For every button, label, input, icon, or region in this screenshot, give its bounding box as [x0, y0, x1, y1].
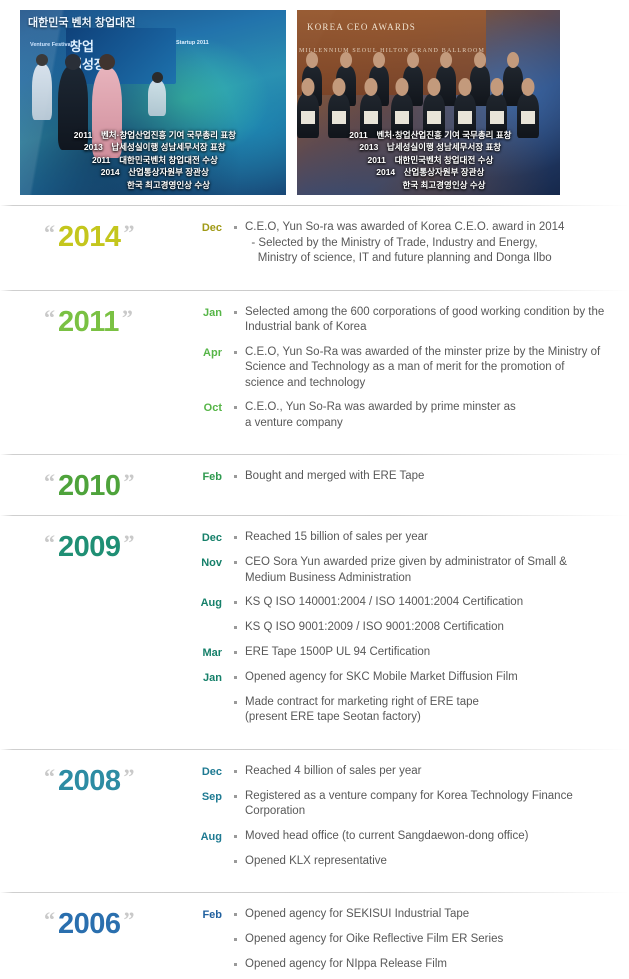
- year-label-2010: “2010”: [0, 469, 190, 501]
- event-text: Bought and merged with ERE Tape: [234, 469, 623, 485]
- event-line: Opened agency for NIppa Release Film: [245, 957, 623, 973]
- caption-line: 2011대한민국벤처 창업대전 수상: [303, 154, 554, 167]
- caption-line: 2011벤처·창업산업진흥 기여 국무총리 표창: [303, 129, 554, 142]
- caption-text: 납세성실이행 성남세무서장 표창: [111, 142, 225, 152]
- event-row: NovCEO Sora Yun awarded prize given by a…: [190, 555, 623, 586]
- ceo-photo-caption-block: 2011벤처·창업산업진흥 기여 국무총리 표창 2013납세성실이행 성남세무…: [297, 129, 560, 192]
- event-text: Made contract for marketing right of ERE…: [234, 695, 623, 726]
- event-text: ERE Tape 1500P UL 94 Certification: [234, 645, 623, 661]
- caption-text: 한국 최고경영인상 수상: [127, 180, 210, 190]
- event-month: [190, 957, 234, 958]
- event-line: C.E.O, Yun So-ra was awarded of Korea C.…: [245, 220, 623, 236]
- event-month: Apr: [190, 345, 234, 361]
- caption-year: 2014: [97, 166, 123, 179]
- events-list-2006: FebOpened agency for SEKISUI Industrial …: [190, 907, 629, 979]
- event-line: Reached 4 billion of sales per year: [245, 764, 623, 780]
- close-quote-icon: ”: [124, 530, 135, 555]
- caption-text: 산업통상자원부 장관상: [128, 167, 209, 177]
- award-photos-row: 대한민국 벤처 창업대전 창업 래성장 Venture Festival Sta…: [0, 0, 629, 205]
- event-month: Sep: [190, 789, 234, 805]
- open-quote-icon: “: [44, 764, 55, 789]
- event-line: Opened agency for Oike Reflective Film E…: [245, 932, 623, 948]
- caption-line: 2011벤처·창업산업진흥 기여 국무총리 표창: [26, 129, 280, 142]
- events-list-2014: DecC.E.O, Yun So-ra was awarded of Korea…: [190, 220, 629, 276]
- year-block-2009: “2009”DecReached 15 billion of sales per…: [0, 516, 629, 749]
- event-row: OctC.E.O., Yun So-Ra was awarded by prim…: [190, 400, 623, 431]
- event-line: Moved head office (to current Sangdaewon…: [245, 829, 623, 845]
- event-line: KS Q ISO 9001:2009 / ISO 9001:2008 Certi…: [245, 620, 623, 636]
- close-quote-icon: ”: [122, 305, 133, 330]
- event-line: Bought and merged with ERE Tape: [245, 469, 623, 485]
- event-line: - Selected by the Ministry of Trade, Ind…: [245, 236, 623, 252]
- caption-text: 벤처·창업산업진흥 기여 국무총리 표창: [101, 130, 236, 140]
- caption-text: 한국 최고경영인상 수상: [403, 180, 486, 190]
- event-line: C.E.O, Yun So-Ra was awarded of the mins…: [245, 345, 623, 361]
- event-text: KS Q ISO 9001:2009 / ISO 9001:2008 Certi…: [234, 620, 623, 636]
- event-row: AprC.E.O, Yun So-Ra was awarded of the m…: [190, 345, 623, 392]
- year-block-2014: “2014”DecC.E.O, Yun So-ra was awarded of…: [0, 206, 629, 290]
- event-month: [190, 620, 234, 621]
- event-line: Selected among the 600 corporations of g…: [245, 305, 623, 321]
- event-line: Corporation: [245, 804, 623, 820]
- event-line: science and technology: [245, 376, 623, 392]
- event-text: Opened KLX representative: [234, 854, 623, 870]
- event-text: CEO Sora Yun awarded prize given by admi…: [234, 555, 623, 586]
- event-line: Science and Technology as a man of merit…: [245, 360, 623, 376]
- caption-year: 2011: [70, 129, 96, 142]
- close-quote-icon: ”: [124, 220, 135, 245]
- caption-text: 납세성실이행 성남세무서장 표창: [387, 142, 501, 152]
- year-number: 2006: [58, 908, 121, 940]
- event-month: Aug: [190, 595, 234, 611]
- close-quote-icon: ”: [124, 764, 135, 789]
- caption-text: 산업통상자원부 장관상: [404, 167, 485, 177]
- year-number: 2009: [58, 531, 121, 563]
- startup-2011-label: Startup 2011: [176, 40, 209, 47]
- event-line: Opened agency for SKC Mobile Market Diff…: [245, 670, 623, 686]
- event-row: DecReached 15 billion of sales per year: [190, 530, 623, 546]
- event-row: AugMoved head office (to current Sangdae…: [190, 829, 623, 845]
- event-month: Jan: [190, 670, 234, 686]
- event-text: Selected among the 600 corporations of g…: [234, 305, 623, 336]
- event-line: Opened agency for SEKISUI Industrial Tap…: [245, 907, 623, 923]
- year-number: 2011: [58, 306, 119, 338]
- year-label-2014: “2014”: [0, 220, 190, 276]
- venture-photo-caption-block: 2011벤처·창업산업진흥 기여 국무총리 표창 2013납세성실이행 성남세무…: [20, 129, 286, 192]
- year-number: 2008: [58, 765, 121, 797]
- events-list-2010: FebBought and merged with ERE Tape: [190, 469, 629, 501]
- event-row: DecReached 4 billion of sales per year: [190, 764, 623, 780]
- event-month: [190, 854, 234, 855]
- caption-year: 2013: [80, 141, 106, 154]
- figure-attendee-right: [148, 80, 166, 116]
- event-row: FebBought and merged with ERE Tape: [190, 469, 623, 485]
- korea-ceo-awards-headline: KOREA CEO AWARDS: [307, 22, 416, 32]
- event-text: Moved head office (to current Sangdaewon…: [234, 829, 623, 845]
- year-label-2011: “2011”: [0, 305, 190, 441]
- caption-line: 한국 최고경영인상 수상: [303, 179, 554, 192]
- venture-festival-label: Venture Festival: [30, 42, 72, 49]
- caption-year: 2011: [88, 154, 114, 167]
- caption-year: 2011: [345, 129, 371, 142]
- close-quote-icon: ”: [124, 907, 135, 932]
- event-line: KS Q ISO 140001:2004 / ISO 14001:2004 Ce…: [245, 595, 623, 611]
- caption-line: 2013납세성실이행 성남세무서장 표창: [26, 141, 280, 154]
- venue-label: MILLENNIUM SEOUL HILTON GRAND BALLROOM: [299, 48, 485, 54]
- event-line: Registered as a venture company for Kore…: [245, 789, 623, 805]
- event-row: FebOpened agency for SEKISUI Industrial …: [190, 907, 623, 923]
- event-month: Jan: [190, 305, 234, 321]
- event-line: a venture company: [245, 416, 623, 432]
- figure-attendee-left: [32, 64, 52, 120]
- event-month: Nov: [190, 555, 234, 571]
- event-month: Feb: [190, 469, 234, 485]
- caption-line: 2014산업통상자원부 장관상: [26, 166, 280, 179]
- event-text: Reached 4 billion of sales per year: [234, 764, 623, 780]
- year-label-2009: “2009”: [0, 530, 190, 735]
- event-month: Dec: [190, 220, 234, 236]
- event-text: Registered as a venture company for Kore…: [234, 789, 623, 820]
- event-row: AugKS Q ISO 140001:2004 / ISO 14001:2004…: [190, 595, 623, 611]
- event-text: C.E.O., Yun So-Ra was awarded by prime m…: [234, 400, 623, 431]
- event-month: [190, 695, 234, 696]
- event-line: CEO Sora Yun awarded prize given by admi…: [245, 555, 623, 571]
- event-line: C.E.O., Yun So-Ra was awarded by prime m…: [245, 400, 623, 416]
- figure-recipient-head: [99, 54, 115, 70]
- history-page: 대한민국 벤처 창업대전 창업 래성장 Venture Festival Sta…: [0, 0, 629, 979]
- events-list-2009: DecReached 15 billion of sales per yearN…: [190, 530, 629, 735]
- event-text: Opened agency for SEKISUI Industrial Tap…: [234, 907, 623, 923]
- event-line: ERE Tape 1500P UL 94 Certification: [245, 645, 623, 661]
- event-line: Made contract for marketing right of ERE…: [245, 695, 623, 711]
- event-month: Dec: [190, 764, 234, 780]
- event-text: Opened agency for SKC Mobile Market Diff…: [234, 670, 623, 686]
- open-quote-icon: “: [44, 907, 55, 932]
- caption-year: 2011: [364, 154, 390, 167]
- event-text: KS Q ISO 140001:2004 / ISO 14001:2004 Ce…: [234, 595, 623, 611]
- event-month: Feb: [190, 907, 234, 923]
- year-block-2010: “2010”FebBought and merged with ERE Tape: [0, 455, 629, 515]
- caption-line: 한국 최고경영인상 수상: [26, 179, 280, 192]
- event-text: C.E.O, Yun So-ra was awarded of Korea C.…: [234, 220, 623, 267]
- event-line: Industrial bank of Korea: [245, 320, 623, 336]
- close-quote-icon: ”: [124, 469, 135, 494]
- event-row: Opened KLX representative: [190, 854, 623, 870]
- open-quote-icon: “: [44, 305, 55, 330]
- events-list-2008: DecReached 4 billion of sales per yearSe…: [190, 764, 629, 879]
- caption-text: 벤처·창업산업진흥 기여 국무총리 표창: [376, 130, 511, 140]
- year-number: 2010: [58, 470, 121, 502]
- event-row: MarERE Tape 1500P UL 94 Certification: [190, 645, 623, 661]
- caption-year: 2013: [356, 141, 382, 154]
- figure-presenter-head: [65, 54, 81, 70]
- event-month: Dec: [190, 530, 234, 546]
- caption-text: 대한민국벤처 창업대전 수상: [395, 155, 494, 165]
- caption-text: 대한민국벤처 창업대전 수상: [119, 155, 218, 165]
- venture-startup-festival-photo[interactable]: 대한민국 벤처 창업대전 창업 래성장 Venture Festival Sta…: [20, 10, 286, 195]
- event-line: Medium Business Administration: [245, 571, 623, 587]
- figure-attendee-left-head: [36, 54, 48, 66]
- event-text: Reached 15 billion of sales per year: [234, 530, 623, 546]
- event-month: [190, 932, 234, 933]
- year-block-2011: “2011”JanSelected among the 600 corporat…: [0, 291, 629, 455]
- event-text: C.E.O, Yun So-Ra was awarded of the mins…: [234, 345, 623, 392]
- event-row: KS Q ISO 9001:2009 / ISO 9001:2008 Certi…: [190, 620, 623, 636]
- year-block-2006: “2006”FebOpened agency for SEKISUI Indus…: [0, 893, 629, 979]
- venture-banner-korean-1: 창업: [70, 36, 94, 55]
- event-text: Opened agency for Oike Reflective Film E…: [234, 932, 623, 948]
- event-row: JanSelected among the 600 corporations o…: [190, 305, 623, 336]
- event-line: Reached 15 billion of sales per year: [245, 530, 623, 546]
- year-number: 2014: [58, 221, 121, 253]
- event-row: Opened agency for Oike Reflective Film E…: [190, 932, 623, 948]
- year-block-2008: “2008”DecReached 4 billion of sales per …: [0, 750, 629, 893]
- event-month: Mar: [190, 645, 234, 661]
- open-quote-icon: “: [44, 530, 55, 555]
- event-row: Opened agency for NIppa Release Film: [190, 957, 623, 973]
- caption-line: 2014산업통상자원부 장관상: [303, 166, 554, 179]
- event-row: Made contract for marketing right of ERE…: [190, 695, 623, 726]
- event-text: Opened agency for NIppa Release Film: [234, 957, 623, 973]
- open-quote-icon: “: [44, 469, 55, 494]
- korea-ceo-awards-photo[interactable]: KOREA CEO AWARDS MILLENNIUM SEOUL HILTON…: [297, 10, 560, 195]
- caption-year: 2014: [373, 166, 399, 179]
- event-row: DecC.E.O, Yun So-ra was awarded of Korea…: [190, 220, 623, 267]
- event-month: Oct: [190, 400, 234, 416]
- caption-line: 2011대한민국벤처 창업대전 수상: [26, 154, 280, 167]
- history-timeline: “2014”DecC.E.O, Yun So-ra was awarded of…: [0, 206, 629, 979]
- event-row: JanOpened agency for SKC Mobile Market D…: [190, 670, 623, 686]
- event-line: Ministry of science, IT and future plann…: [245, 251, 623, 267]
- year-label-2006: “2006”: [0, 907, 190, 979]
- event-line: Opened KLX representative: [245, 854, 623, 870]
- year-label-2008: “2008”: [0, 764, 190, 879]
- caption-line: 2013납세성실이행 성남세무서장 표창: [303, 141, 554, 154]
- event-row: SepRegistered as a venture company for K…: [190, 789, 623, 820]
- event-month: Aug: [190, 829, 234, 845]
- events-list-2011: JanSelected among the 600 corporations o…: [190, 305, 629, 441]
- open-quote-icon: “: [44, 220, 55, 245]
- event-line: (present ERE tape Seotan factory): [245, 710, 623, 726]
- figure-attendee-right-head: [152, 72, 163, 83]
